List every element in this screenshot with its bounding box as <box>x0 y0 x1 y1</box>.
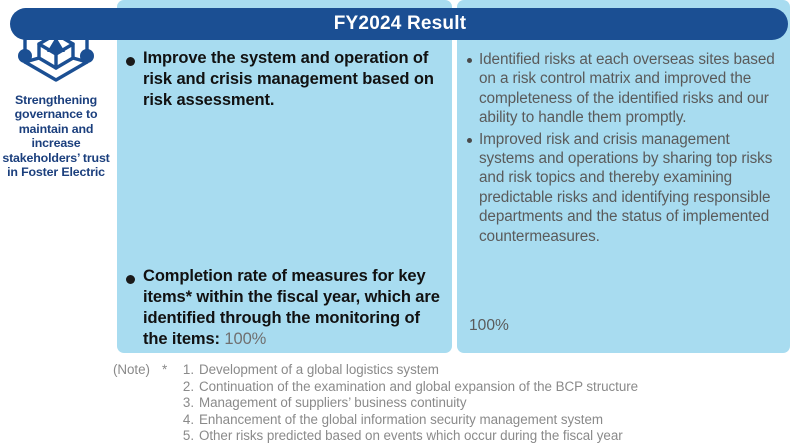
footnote-star-spacer <box>162 379 170 396</box>
footnote-lead-spacer <box>113 412 162 429</box>
footnote-row: 3. Management of suppliers’ business con… <box>113 395 793 412</box>
list-item: Improve the system and operation of risk… <box>126 48 442 111</box>
bullet-dot-icon <box>467 138 472 143</box>
fy2024-result-header-label: FY2024 Result <box>334 13 467 35</box>
footnotes: (Note) * 1. Development of a global logi… <box>113 362 793 445</box>
fy2024-result-bullets: Identified risks at each overseas sites … <box>466 50 784 248</box>
footnote-text: Continuation of the examination and glob… <box>199 379 793 396</box>
bullet-dot-icon <box>467 58 472 63</box>
fy2024-result-header: FY2024 Result <box>12 8 788 40</box>
footnote-text: Development of a global logistics system <box>199 362 793 379</box>
list-item: Improved risk and crisis management syst… <box>466 130 784 246</box>
footnote-lead-spacer <box>113 395 162 412</box>
result-bullet-2-text: Improved risk and crisis management syst… <box>479 130 784 246</box>
footnote-row: 4. Enhancement of the global information… <box>113 412 793 429</box>
footnote-text: Management of suppliers’ business contin… <box>199 395 793 412</box>
footnote-lead-spacer <box>113 379 162 396</box>
footnote-number: 1. <box>170 362 199 379</box>
list-item: Identified risks at each overseas sites … <box>466 50 784 128</box>
footnote-number: 5. <box>170 428 199 445</box>
footnote-asterisk: * <box>162 362 170 379</box>
footnote-row: 5. Other risks predicted based on events… <box>113 428 793 445</box>
footnote-text: Enhancement of the global information se… <box>199 412 793 429</box>
target-completion-rate-value: 100% <box>224 330 266 348</box>
footnote-lead-label: (Note) <box>113 362 162 379</box>
footnote-star-spacer <box>162 428 170 445</box>
list-item: Completion rate of measures for key item… <box>126 266 442 350</box>
target-bullet-2-label: Completion rate of measures for key item… <box>143 267 440 348</box>
footnote-number: 4. <box>170 412 199 429</box>
result-completion-rate-value: 100% <box>469 317 509 335</box>
footnote-star-spacer <box>162 412 170 429</box>
footnote-text: Other risks predicted based on events wh… <box>199 428 793 445</box>
footnote-row: (Note) * 1. Development of a global logi… <box>113 362 793 379</box>
footnote-star-spacer <box>162 395 170 412</box>
footnote-row: 2. Continuation of the examination and g… <box>113 379 793 396</box>
bullet-dot-icon <box>126 275 135 284</box>
result-bullet-1-text: Identified risks at each overseas sites … <box>479 50 784 128</box>
governance-theme-caption: Strengthening governance to maintain and… <box>2 93 110 179</box>
footnote-number: 3. <box>170 395 199 412</box>
fy2024-target-bullets: Improve the system and operation of risk… <box>126 48 442 350</box>
footnote-lead-spacer <box>113 428 162 445</box>
target-bullet-1-text: Improve the system and operation of risk… <box>143 48 442 111</box>
footnote-number: 2. <box>170 379 199 396</box>
target-bullet-2-text: Completion rate of measures for key item… <box>143 266 442 350</box>
bullet-dot-icon <box>126 57 135 66</box>
